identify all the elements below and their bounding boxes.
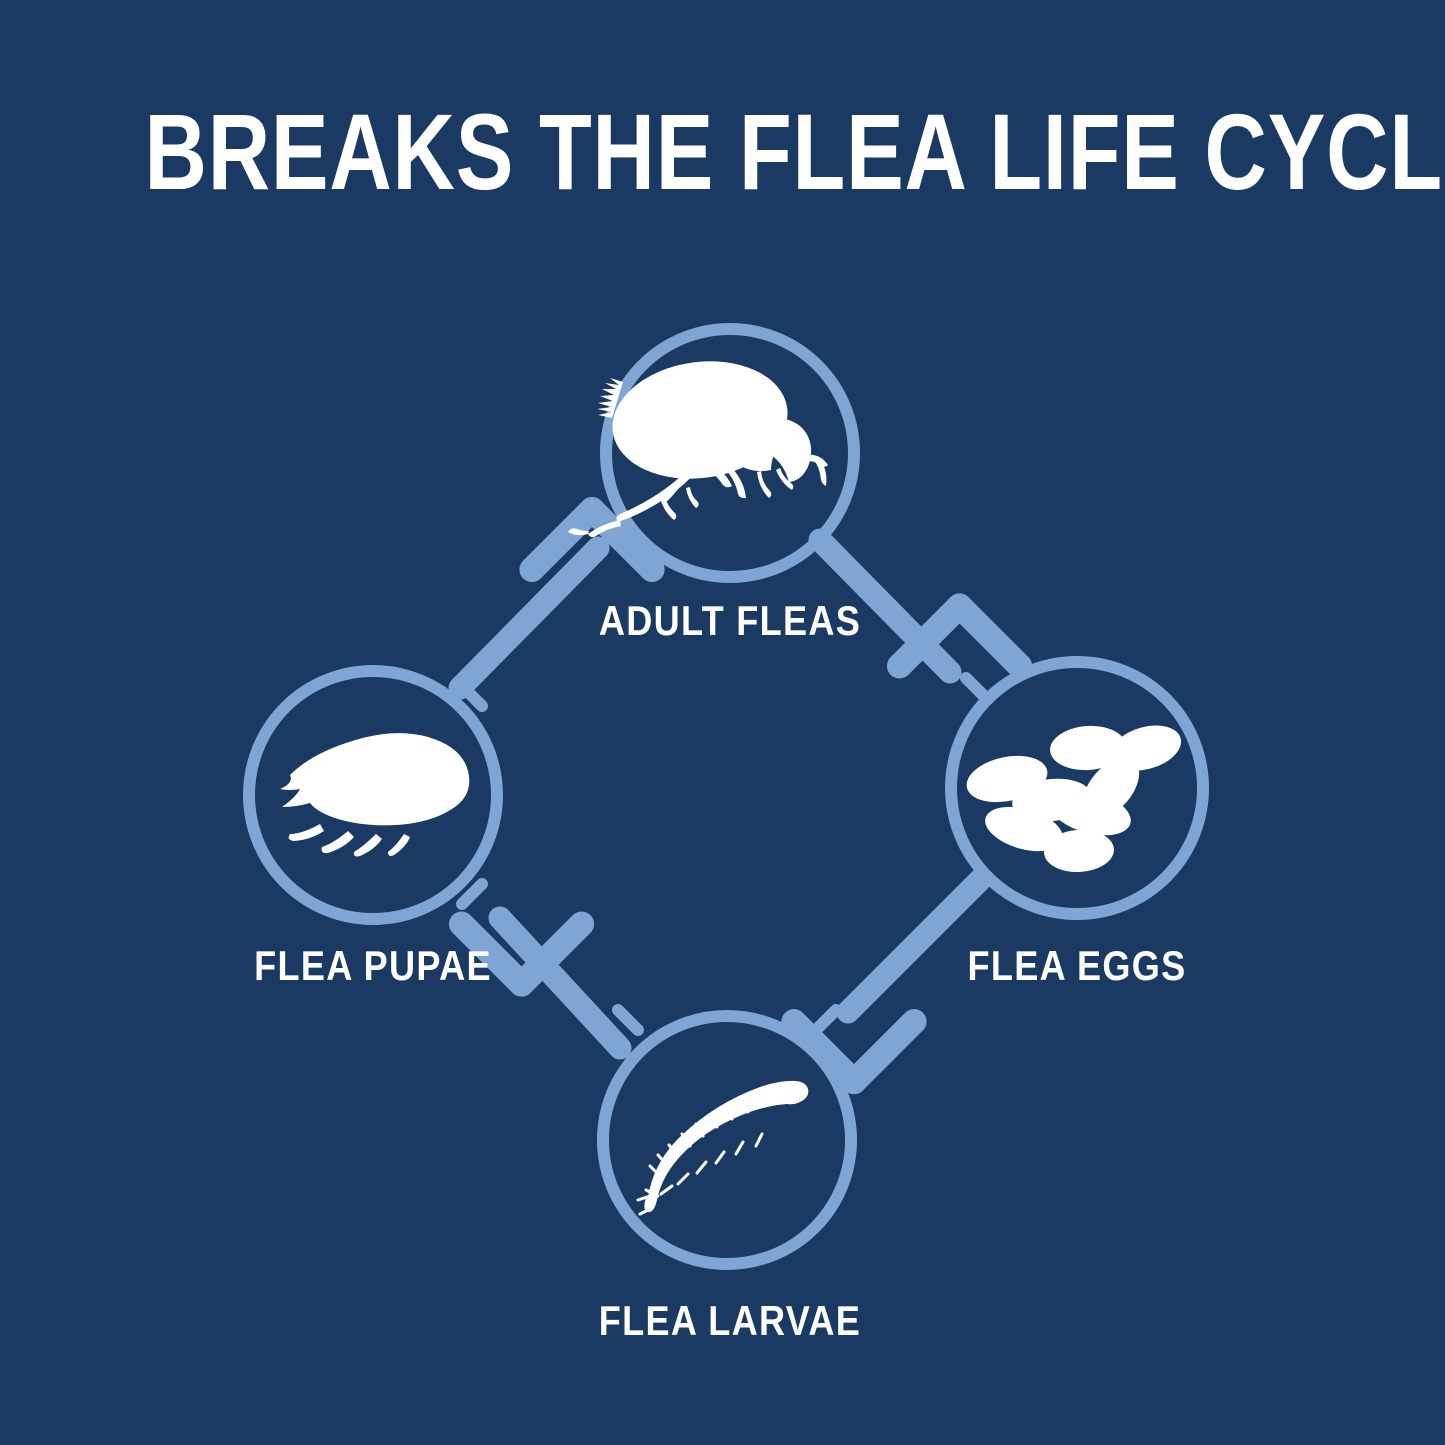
stage-label-adult-fleas: ADULT FLEAS [558, 598, 902, 644]
node-flea-pupae[interactable] [249, 671, 497, 919]
stage-label-flea-eggs: FLEA EGGS [905, 943, 1249, 989]
lens-handle-pupae-2 [462, 884, 482, 904]
lens-handle-pupae [462, 686, 482, 706]
lens-handle-larvae-2 [816, 1010, 836, 1030]
arrow-pupae-to-adult [460, 492, 670, 688]
node-ring-larvae [603, 1016, 851, 1264]
flea-eggs-icon [962, 718, 1186, 874]
stage-label-flea-pupae: FLEA PUPAE [201, 943, 545, 989]
node-flea-eggs[interactable] [951, 662, 1203, 914]
lens-handle-larvae [618, 1010, 638, 1030]
arrow-eggs-to-larvae [776, 880, 980, 1099]
stage-label-flea-larvae: FLEA LARVAE [558, 1298, 902, 1344]
flea-life-cycle-diagram [0, 0, 1445, 1445]
flea-larva-icon [638, 1081, 808, 1214]
poster-canvas: BREAKS THE FLEA LIFE CYCLE [0, 0, 1445, 1445]
node-flea-larvae[interactable] [603, 1010, 851, 1264]
flea-pupa-icon [280, 733, 469, 856]
lens-handle-eggs [966, 678, 986, 698]
